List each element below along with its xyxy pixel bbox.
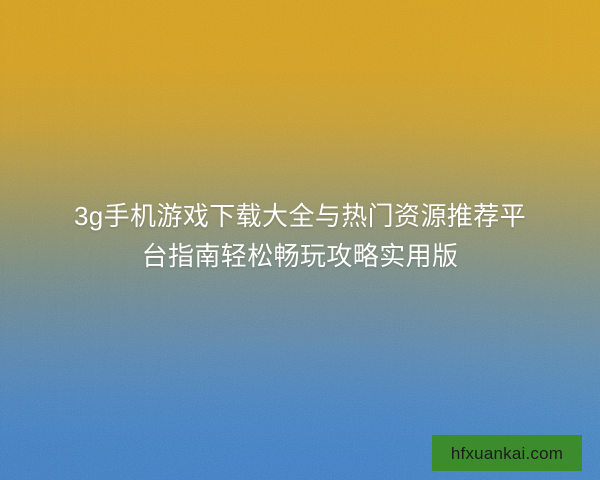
watermark-label: hfxuankai.com — [451, 445, 563, 462]
cover-image: 3g手机游戏下载大全与热门资源推荐平 台指南轻松畅玩攻略实用版 hfxuanka… — [0, 0, 600, 480]
watermark-badge: hfxuankai.com — [432, 435, 582, 471]
page-title: 3g手机游戏下载大全与热门资源推荐平 台指南轻松畅玩攻略实用版 — [0, 196, 600, 276]
